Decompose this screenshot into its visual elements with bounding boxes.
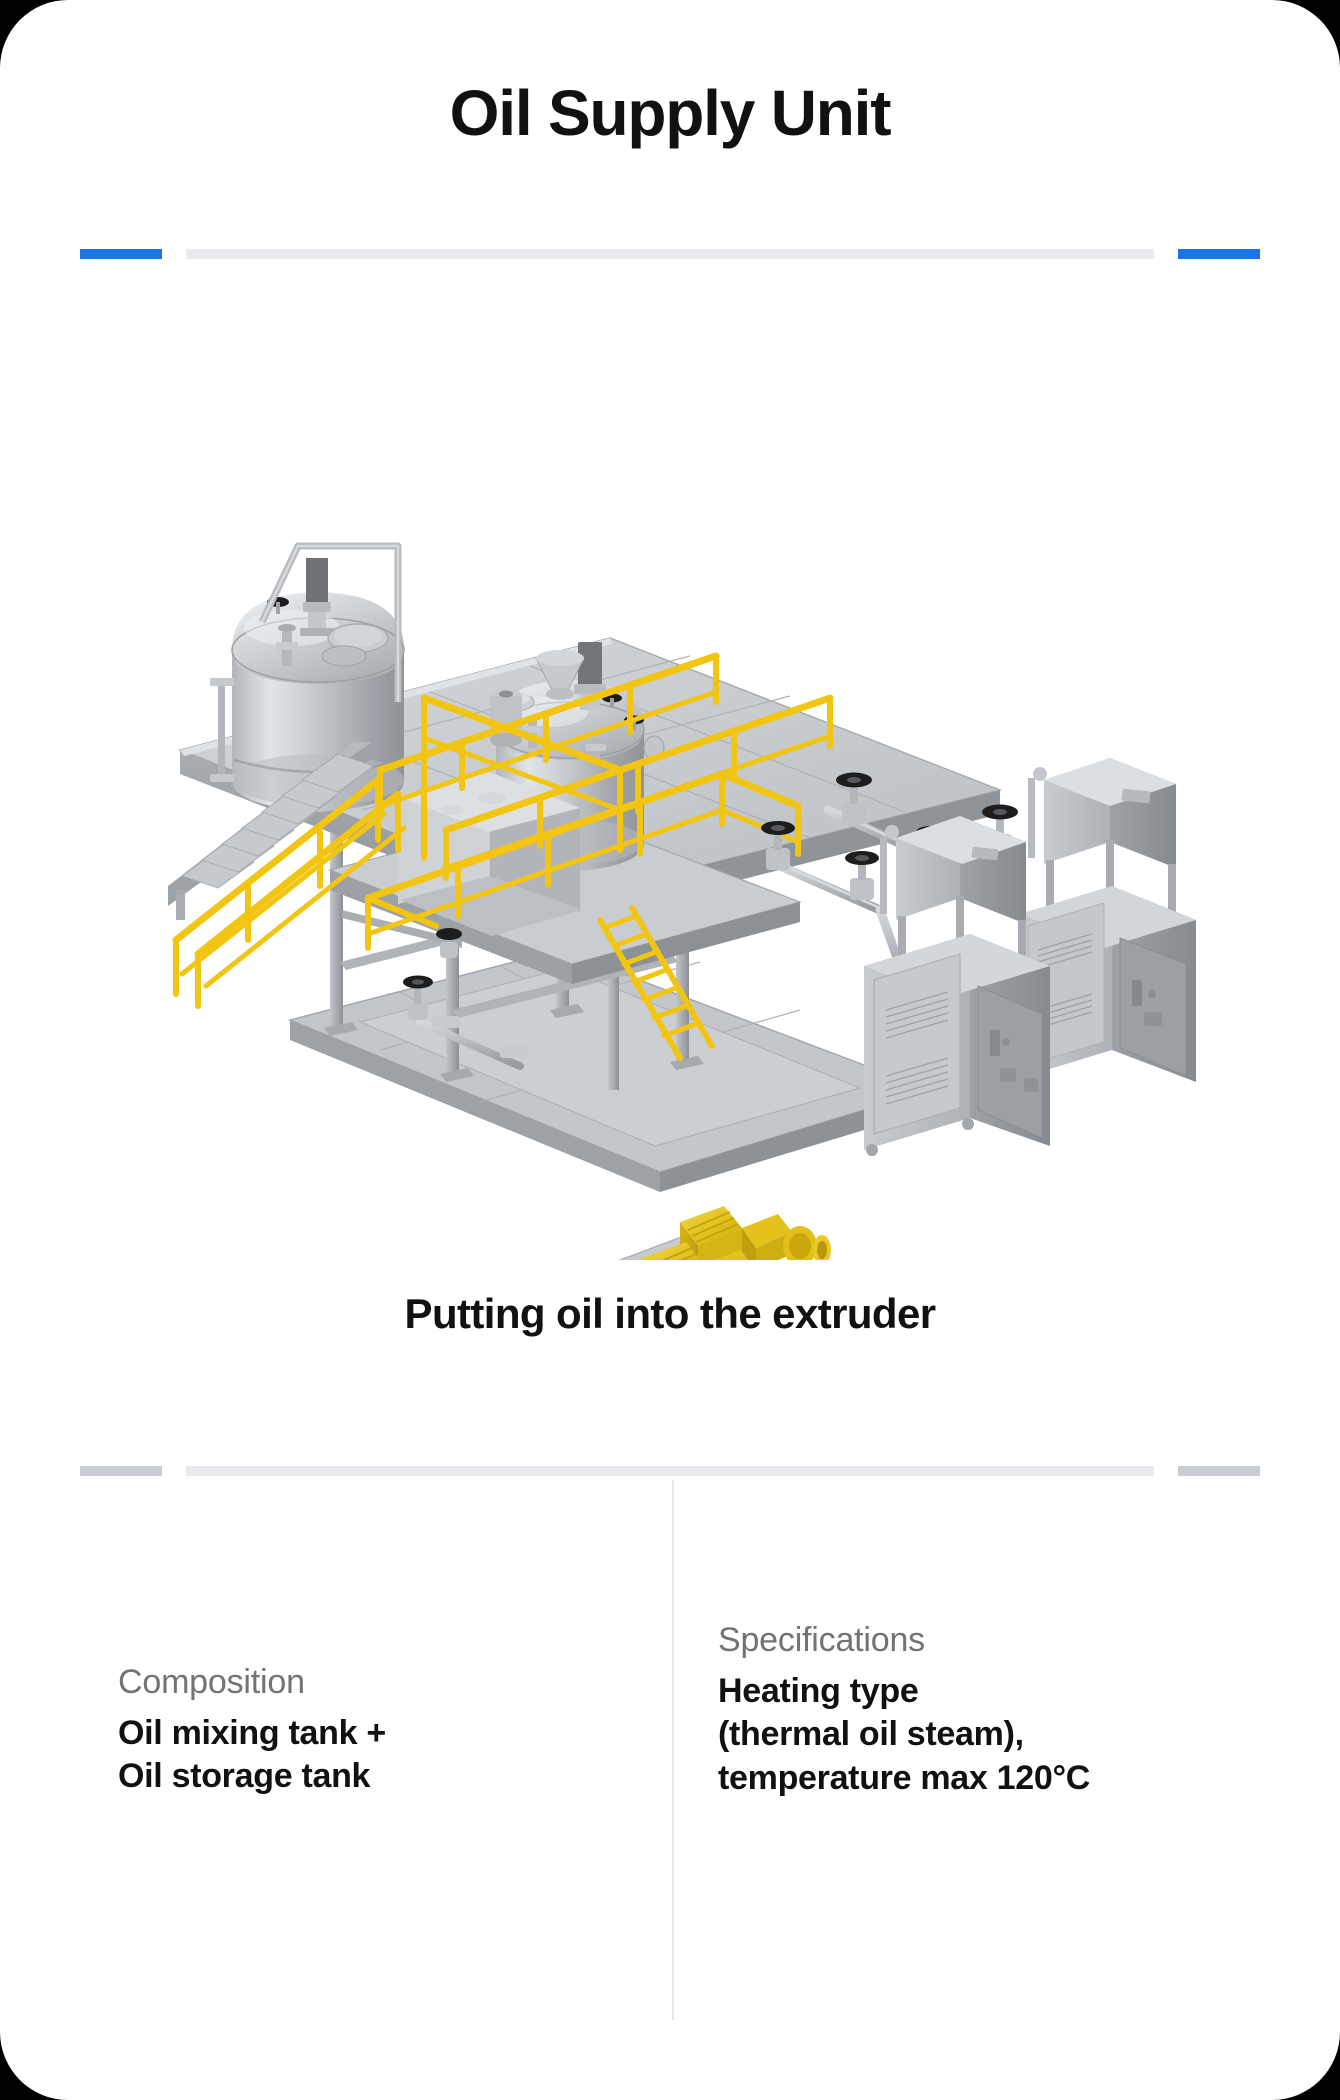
valve [845, 851, 879, 900]
page-title: Oil Supply Unit [0, 0, 1340, 147]
specifications-value: Heating type (thermal oil steam), temper… [718, 1670, 1300, 1801]
divider-bottom [0, 1466, 1340, 1476]
spec-column-composition: Composition Oil mixing tank + Oil storag… [0, 1500, 672, 2060]
spec-area: Composition Oil mixing tank + Oil storag… [0, 1500, 1340, 2060]
pump-unit [676, 1206, 831, 1260]
product-card: Oil Supply Unit [0, 0, 1340, 2100]
heater-cabinet [864, 816, 1050, 1156]
oil-storage-tank [210, 546, 404, 812]
inline-filter [490, 689, 522, 747]
divider-bottom-line [186, 1466, 1154, 1476]
equipment-illustration [0, 250, 1340, 1260]
pump-skid [607, 1206, 900, 1260]
composition-value: Oil mixing tank + Oil storage tank [118, 1712, 632, 1799]
composition-label: Composition [118, 1660, 632, 1706]
divider-bottom-cap-right [1178, 1466, 1260, 1476]
divider-bottom-cap-left [80, 1466, 162, 1476]
illustration-caption: Putting oil into the extruder [0, 1290, 1340, 1338]
specifications-label: Specifications [718, 1618, 1300, 1664]
spec-column-specifications: Specifications Heating type (thermal oil… [672, 1500, 1340, 2060]
